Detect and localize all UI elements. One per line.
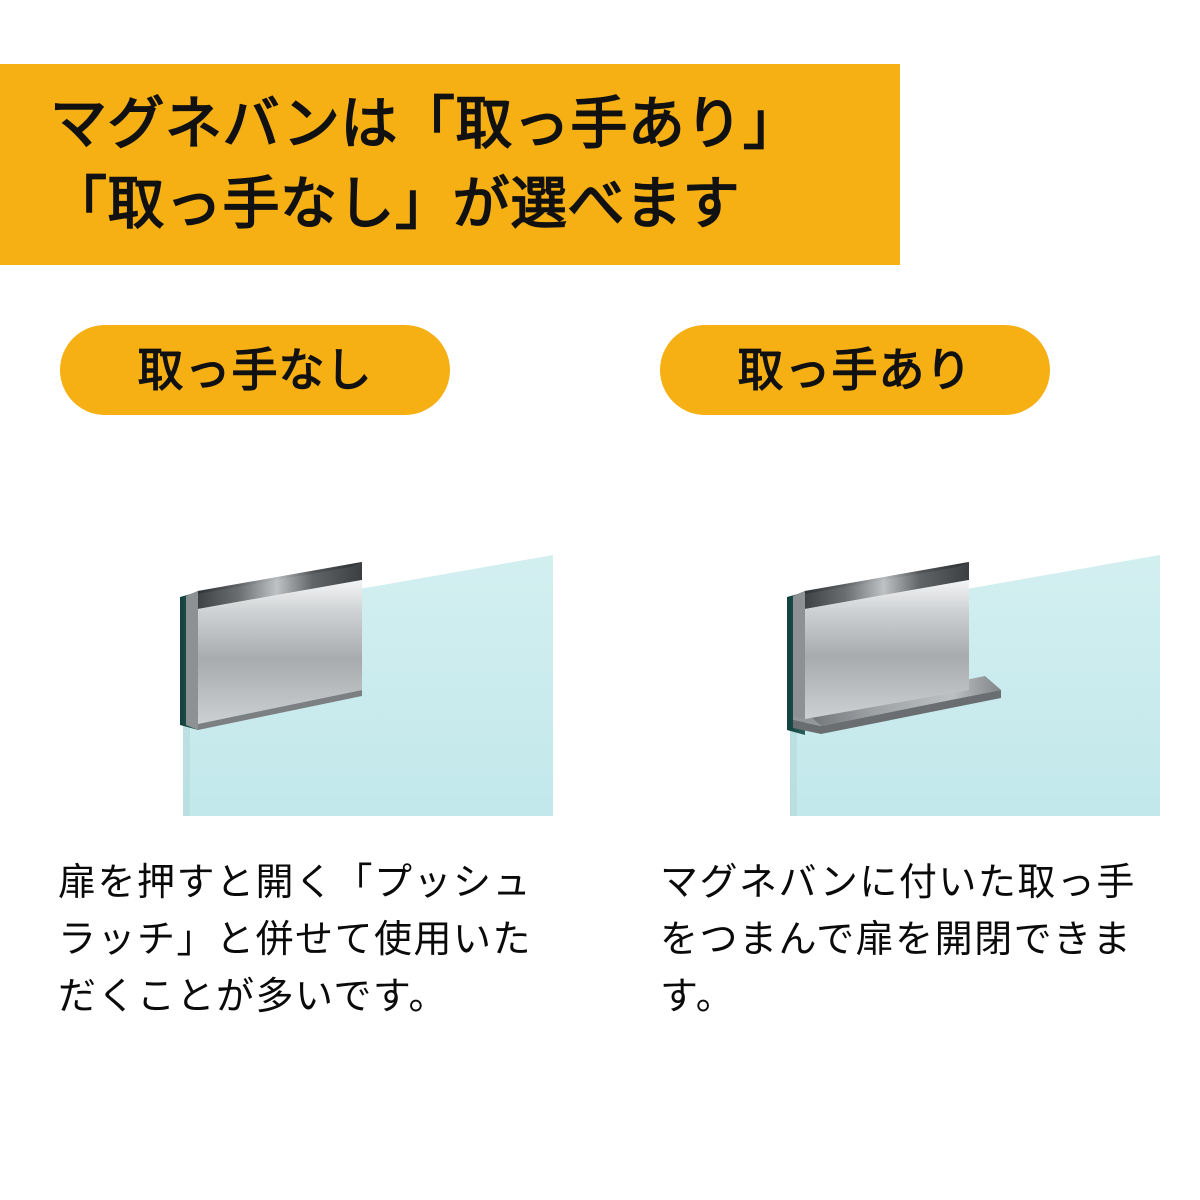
option-pill-label-no-handle: 取っ手なし [138, 347, 373, 393]
magnet-catch-without-handle-svg [150, 520, 570, 850]
option-pill-with-handle: 取っ手あり [660, 325, 1050, 415]
caption-with-handle: マグネバンに付いた取っ手をつまんで扉を開閉できます。 [660, 855, 1160, 1026]
option-pill-no-handle: 取っ手なし [60, 325, 450, 415]
metal-bar-left-side [186, 591, 198, 730]
magnet-catch-with-handle-svg [757, 520, 1177, 850]
option-pill-label-with-handle: 取っ手あり [738, 347, 973, 393]
caption-no-handle: 扉を押すと開く「プッシュラッチ」と併せて使用いただくことが多いです。 [58, 855, 558, 1026]
illustration-with-handle [757, 520, 1177, 850]
metal-bar-left-side [793, 591, 805, 719]
header-banner-line-2: 「取っ手なし」が選べます [50, 164, 900, 244]
header-banner-line-1: マグネバンは「取っ手あり」 [50, 84, 900, 164]
header-banner: マグネバンは「取っ手あり」 「取っ手なし」が選べます [0, 64, 900, 265]
illustration-no-handle [150, 520, 570, 850]
